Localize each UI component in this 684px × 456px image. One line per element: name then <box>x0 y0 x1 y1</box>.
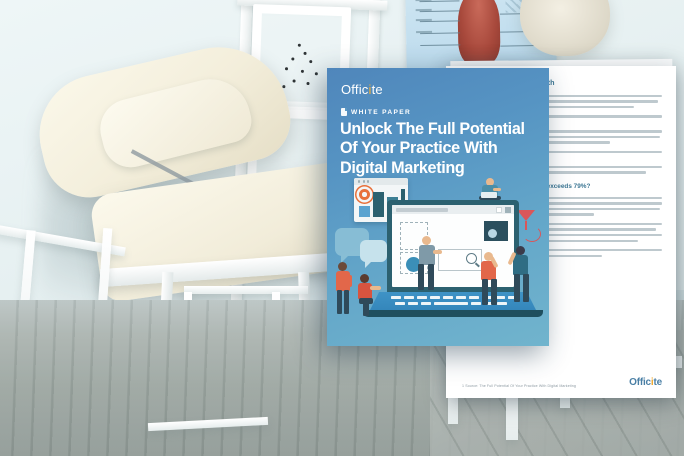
chat-bubble-icon <box>360 240 387 262</box>
cover-eyebrow: WHITE PAPER <box>341 108 411 116</box>
person-figure <box>477 252 501 310</box>
scene-root: ntial Of Your Practice With <box>0 0 684 456</box>
poster-figure-torso <box>457 0 500 64</box>
cover-title-line: Unlock The Full Potential <box>340 120 546 139</box>
cover-title-line: Of Your Practice With <box>340 139 546 158</box>
whitepaper-cover[interactable]: Officite WHITE PAPER Unlock The Full Pot… <box>327 68 549 346</box>
cover-title: Unlock The Full Potential Of Your Practi… <box>340 120 546 178</box>
document-icon <box>341 108 347 116</box>
search-icon <box>466 253 477 264</box>
laptop-base-shadow <box>363 310 543 317</box>
photo-placeholder-icon <box>484 221 508 241</box>
person-figure <box>509 246 533 310</box>
cover-illustration <box>327 176 549 346</box>
chart-bar <box>373 192 384 217</box>
megaphone-cable <box>523 226 541 242</box>
person-figure <box>357 274 383 316</box>
cover-eyebrow-label: WHITE PAPER <box>351 109 411 116</box>
person-figure <box>333 262 355 314</box>
gear-icon <box>359 189 370 200</box>
page-footer: 1 Source: The Full Potential Of Your Pra… <box>462 377 662 388</box>
person-figure <box>413 236 443 296</box>
officite-logo: Officite <box>341 82 383 97</box>
page-footer-logo: Officite <box>629 377 662 388</box>
cover-title-line: Digital Marketing <box>340 159 546 178</box>
megaphone-icon <box>517 210 535 221</box>
chart-bar <box>359 206 370 217</box>
page-footer-note: 1 Source: The Full Potential Of Your Pra… <box>462 384 576 388</box>
